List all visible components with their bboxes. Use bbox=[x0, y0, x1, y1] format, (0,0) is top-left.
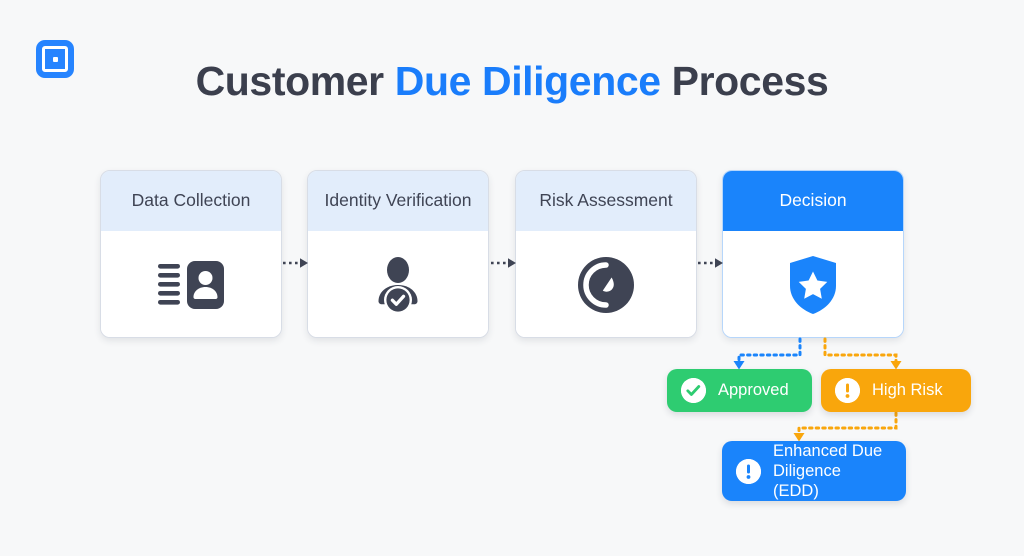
shield-star-icon bbox=[788, 256, 838, 314]
flow-step-body bbox=[723, 231, 903, 338]
outcome-badge-approved[interactable]: Approved bbox=[667, 369, 812, 412]
flow-step-header: Data Collection bbox=[101, 171, 281, 231]
branch-edd bbox=[794, 413, 897, 442]
flow-step-header: Decision bbox=[723, 171, 903, 231]
outcome-label-line1: Enhanced Due bbox=[773, 441, 888, 461]
outcome-label: High Risk bbox=[872, 380, 943, 400]
flow-step-decision[interactable]: Decision bbox=[722, 170, 904, 338]
diagram-canvas: Customer Due Diligence Process Data Coll… bbox=[0, 0, 1024, 556]
outcome-label: Approved bbox=[718, 380, 789, 400]
branch-approved bbox=[734, 339, 801, 370]
check-circle-icon bbox=[681, 378, 706, 403]
flow-connector-2 bbox=[491, 256, 517, 268]
flow-step-label: Identity Verification bbox=[325, 190, 472, 212]
outcome-badge-high-risk[interactable]: High Risk bbox=[821, 369, 971, 412]
flow-connector-3 bbox=[698, 256, 724, 268]
exclamation-circle-icon bbox=[835, 378, 860, 403]
flow-step-header: Identity Verification bbox=[308, 171, 488, 231]
outcome-label: Enhanced Due Diligence (EDD) bbox=[773, 441, 888, 501]
flow-step-label: Data Collection bbox=[132, 190, 251, 212]
flow-step-identity-verification[interactable]: Identity Verification bbox=[307, 170, 489, 338]
person-verified-icon bbox=[369, 256, 427, 314]
title-part-2: Process bbox=[661, 58, 829, 104]
flow-step-label: Risk Assessment bbox=[539, 190, 672, 212]
flow-step-body bbox=[101, 231, 281, 338]
title-accent: Due Diligence bbox=[395, 58, 661, 104]
flow-step-data-collection[interactable]: Data Collection bbox=[100, 170, 282, 338]
flow-step-risk-assessment[interactable]: Risk Assessment bbox=[515, 170, 697, 338]
flow-connector-1 bbox=[283, 256, 309, 268]
exclamation-circle-icon bbox=[736, 459, 761, 484]
title-part-1: Customer bbox=[196, 58, 395, 104]
outcome-badge-edd[interactable]: Enhanced Due Diligence (EDD) bbox=[722, 441, 906, 501]
outcome-label-line2: Diligence (EDD) bbox=[773, 461, 888, 501]
page-title: Customer Due Diligence Process bbox=[0, 58, 1024, 105]
flow-step-label: Decision bbox=[779, 190, 846, 212]
flow-step-body bbox=[516, 231, 696, 338]
id-card-icon bbox=[158, 261, 224, 309]
flow-step-header: Risk Assessment bbox=[516, 171, 696, 231]
flow-step-body bbox=[308, 231, 488, 338]
gauge-meter-icon bbox=[578, 257, 634, 313]
branch-high-risk bbox=[825, 339, 902, 370]
